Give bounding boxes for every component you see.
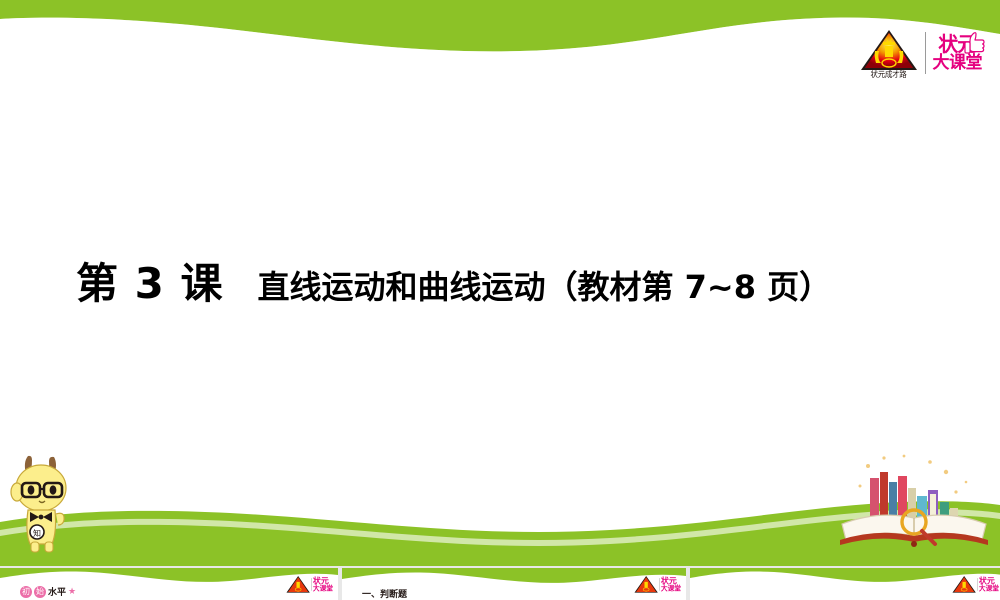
strip-brand-line-2: 大课堂 [313,585,333,592]
level-label-initial: 初 始 水平 ★ [20,585,76,598]
thumbs-up-icon [964,30,986,56]
strip-slide-3[interactable]: 一、判断题 状元 大课堂 [342,568,686,600]
lesson-topic-title: 直线运动和曲线运动（教材第 7~8 页） [257,262,831,308]
triangle-icon [634,576,658,593]
strip-brand-line-2: 大课堂 [979,585,999,592]
level-char-1: 初 [20,586,32,598]
open-book-illustration [834,452,994,552]
logo-divider [925,32,926,74]
current-slide[interactable]: 状元成才路 状元 大课堂 第 3 课 直线运动和曲线运动（教材第 7~8 页） [0,0,1000,566]
level-word: 水平 [48,585,66,598]
mascot-character: 知 [6,450,80,554]
daketang-brand-logo: 状元 大课堂 [933,34,985,72]
strip-brand-line-2: 大课堂 [661,585,681,592]
slide-title: 第 3 课 直线运动和曲线运动（教材第 7~8 页） [76,250,831,311]
strip-logo-3: 状元 大课堂 [634,576,681,593]
triangle-logo-caption: 状元成才路 [871,70,907,80]
svg-text:知: 知 [33,528,41,538]
slide-deck: 状元成才路 状元 大课堂 第 3 课 直线运动和曲线运动（教材第 7~8 页） [0,0,1000,600]
strip-slide-4[interactable]: 状元 大课堂 [690,568,1000,600]
star-icon: ★ [68,586,76,597]
section-heading-true-false: 一、判断题 [362,587,407,600]
triangle-icon [286,576,310,593]
triangle-icon [952,576,976,593]
lesson-number-title: 第 3 课 [76,250,223,311]
brand-line-2: 大课堂 [933,55,983,72]
level-char-2: 始 [34,586,46,598]
strip-logo-4: 状元 大课堂 [952,576,999,593]
brand-logo-group: 状元成才路 状元 大课堂 [860,24,985,82]
slide-thumbnail-strip[interactable]: 初 始 水平 ★ 状元 大课堂 [0,568,1000,600]
strip-slide-2[interactable]: 初 始 水平 ★ 状元 大课堂 [0,568,338,600]
top-green-wave [0,0,1000,70]
triangle-icon [861,30,917,70]
strip-logo-2: 状元 大课堂 [286,576,333,593]
zhuangyuan-triangle-logo: 状元成才路 [860,27,918,79]
